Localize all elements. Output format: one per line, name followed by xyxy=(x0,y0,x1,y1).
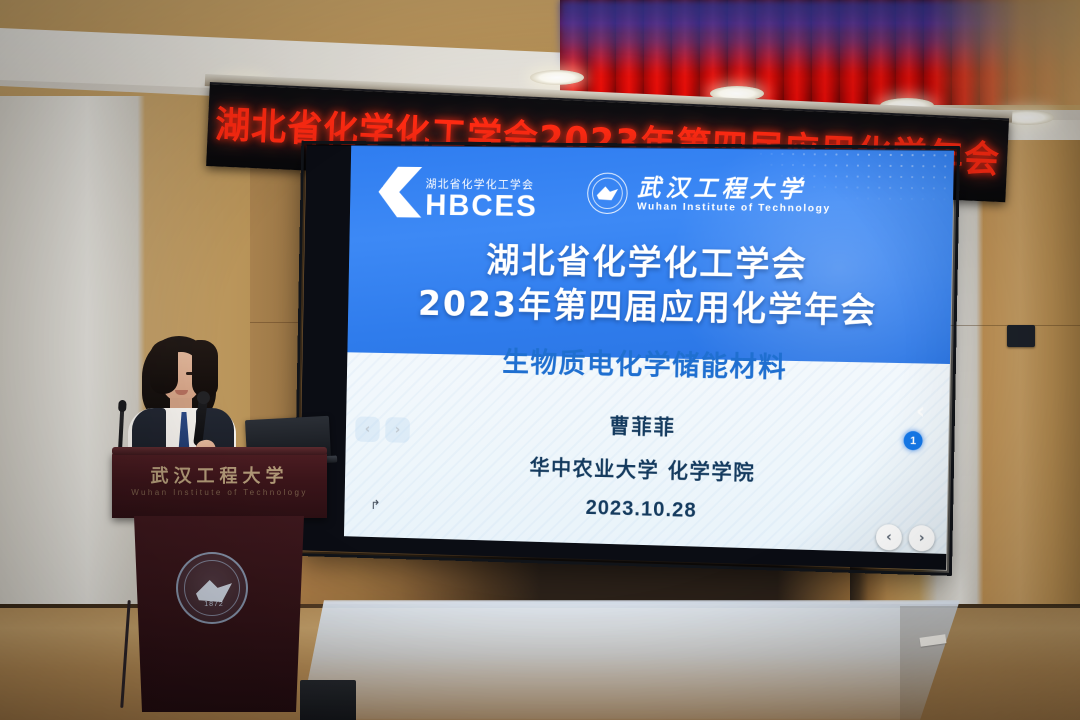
curtain-edge-fade xyxy=(930,0,1080,110)
presentation-slide: 湖北省化学化工学会 HBCES 武汉工程大学 Wuhan Institute o… xyxy=(344,145,954,554)
hbces-abbreviation: HBCES xyxy=(425,192,538,219)
slide-title-block: 湖北省化学化工学会 2023年第四届应用化学年会 生物质电化学储能材料 xyxy=(347,238,952,389)
chevron-left-icon[interactable]: ‹ xyxy=(355,416,380,442)
speaker-affiliation: 华中农业大学 化学学院 xyxy=(345,447,948,492)
slide-nav-group[interactable]: ‹ › xyxy=(876,524,935,552)
collapse-chevron-icon[interactable]: ‹ xyxy=(916,401,925,423)
wall-control-panel[interactable] xyxy=(1007,325,1035,347)
chevron-right-icon[interactable]: › xyxy=(385,417,410,443)
prev-slide-button[interactable]: ‹ xyxy=(876,524,902,551)
wuhan-institute-logo: 武汉工程大学 Wuhan Institute of Technology xyxy=(587,172,832,216)
seal-icon xyxy=(587,172,628,214)
floor-screen-reflection xyxy=(300,600,960,720)
slide-logo-row: 湖北省化学化工学会 HBCES 武汉工程大学 Wuhan Institute o… xyxy=(350,159,954,234)
speaker-hair-front-right xyxy=(192,340,218,398)
next-slide-button[interactable]: › xyxy=(909,525,935,552)
university-emblem-icon: 1872 xyxy=(176,552,248,624)
slide-speaker-block: 曹菲菲 华中农业大学 化学学院 2023.10.28 xyxy=(344,405,948,530)
projection-screen[interactable]: 湖北省化学化工学会 HBCES 武汉工程大学 Wuhan Institute o… xyxy=(299,145,954,570)
hbces-logo: 湖北省化学化工学会 HBCES xyxy=(378,167,538,219)
university-english-name: Wuhan Institute of Technology xyxy=(637,201,831,215)
floor-shadow-right xyxy=(900,606,1080,720)
slide-nav-left-group[interactable]: ‹ › xyxy=(355,416,410,443)
ceiling-downlight xyxy=(530,70,584,85)
emblem-year: 1872 xyxy=(178,601,250,608)
chevron-c-icon xyxy=(378,167,422,218)
share-icon[interactable]: ↱ xyxy=(367,497,384,512)
university-chinese-name: 武汉工程大学 xyxy=(637,175,831,202)
presentation-scene: 湖北省化学化工学会2023年第四届应用化学年会 湖北省化学化工学会 HBCES xyxy=(0,0,1080,720)
slide-title-line-2: 2023年第四届应用化学年会 xyxy=(348,281,951,335)
podium-english-label: Wuhan Institute of Technology xyxy=(112,488,327,497)
speaker-hair-front-left xyxy=(150,340,178,394)
floor-speaker-box xyxy=(300,680,356,720)
podium-chinese-label: 武汉工程大学 xyxy=(112,462,327,488)
podium-top: 武汉工程大学 Wuhan Institute of Technology xyxy=(112,452,327,518)
